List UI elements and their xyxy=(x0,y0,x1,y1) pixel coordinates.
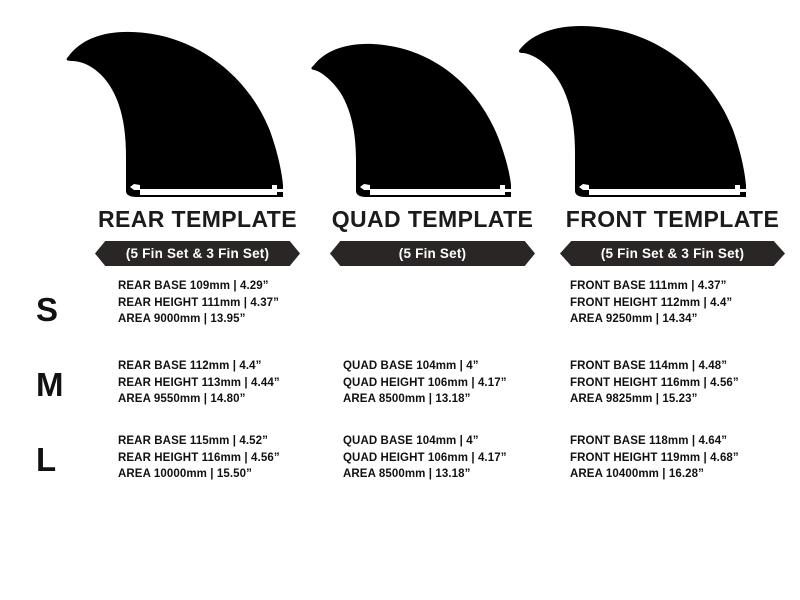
spec-line: REAR BASE 109mm | 4.29” xyxy=(118,278,279,295)
spec-block-s-rear: REAR BASE 109mm | 4.29” REAR HEIGHT 111m… xyxy=(118,278,279,328)
fin-shape-front xyxy=(505,20,755,200)
size-label-m: M xyxy=(36,368,64,401)
spec-line: AREA 8500mm | 13.18” xyxy=(343,466,507,483)
spec-line: FRONT BASE 111mm | 4.37” xyxy=(570,278,732,295)
spec-line: QUAD HEIGHT 106mm | 4.17” xyxy=(343,375,507,392)
column-banner-quad: (5 Fin Set) xyxy=(330,241,535,266)
spec-line: FRONT BASE 118mm | 4.64” xyxy=(570,433,739,450)
spec-line: AREA 8500mm | 13.18” xyxy=(343,391,507,408)
size-label-l: L xyxy=(36,443,56,476)
spec-line: AREA 10000mm | 15.50” xyxy=(118,466,280,483)
spec-line: REAR BASE 112mm | 4.4” xyxy=(118,358,280,375)
spec-block-l-rear: REAR BASE 115mm | 4.52” REAR HEIGHT 116m… xyxy=(118,433,280,483)
column-title-rear: REAR TEMPLATE xyxy=(95,208,300,231)
spec-line: FRONT HEIGHT 119mm | 4.68” xyxy=(570,450,739,467)
column-header-front: FRONT TEMPLATE (5 Fin Set & 3 Fin Set) xyxy=(560,208,785,266)
size-label-s: S xyxy=(36,293,58,326)
column-header-quad: QUAD TEMPLATE (5 Fin Set) xyxy=(330,208,535,266)
spec-line: REAR HEIGHT 113mm | 4.44” xyxy=(118,375,280,392)
spec-block-m-quad: QUAD BASE 104mm | 4” QUAD HEIGHT 106mm |… xyxy=(343,358,507,408)
spec-block-l-front: FRONT BASE 118mm | 4.64” FRONT HEIGHT 11… xyxy=(570,433,739,483)
spec-line: FRONT HEIGHT 116mm | 4.56” xyxy=(570,375,739,392)
fin-shape-quad xyxy=(300,35,525,200)
fin-illustration-row xyxy=(0,0,800,200)
spec-line: AREA 9000mm | 13.95” xyxy=(118,311,279,328)
column-banner-rear: (5 Fin Set & 3 Fin Set) xyxy=(95,241,300,266)
column-title-quad: QUAD TEMPLATE xyxy=(330,208,535,231)
spec-line: REAR HEIGHT 111mm | 4.37” xyxy=(118,295,279,312)
column-banner-front: (5 Fin Set & 3 Fin Set) xyxy=(560,241,785,266)
spec-line: QUAD BASE 104mm | 4” xyxy=(343,358,507,375)
fin-shape-rear xyxy=(45,25,295,200)
spec-line: QUAD BASE 104mm | 4” xyxy=(343,433,507,450)
spec-block-s-front: FRONT BASE 111mm | 4.37” FRONT HEIGHT 11… xyxy=(570,278,732,328)
spec-line: AREA 9250mm | 14.34” xyxy=(570,311,732,328)
spec-line: FRONT HEIGHT 112mm | 4.4” xyxy=(570,295,732,312)
column-title-front: FRONT TEMPLATE xyxy=(560,208,785,231)
spec-line: FRONT BASE 114mm | 4.48” xyxy=(570,358,739,375)
spec-line: AREA 9550mm | 14.80” xyxy=(118,391,280,408)
spec-line: AREA 9825mm | 15.23” xyxy=(570,391,739,408)
spec-line: REAR HEIGHT 116mm | 4.56” xyxy=(118,450,280,467)
column-header-rear: REAR TEMPLATE (5 Fin Set & 3 Fin Set) xyxy=(95,208,300,266)
spec-block-l-quad: QUAD BASE 104mm | 4” QUAD HEIGHT 106mm |… xyxy=(343,433,507,483)
spec-line: QUAD HEIGHT 106mm | 4.17” xyxy=(343,450,507,467)
spec-line: AREA 10400mm | 16.28” xyxy=(570,466,739,483)
spec-line: REAR BASE 115mm | 4.52” xyxy=(118,433,280,450)
spec-block-m-front: FRONT BASE 114mm | 4.48” FRONT HEIGHT 11… xyxy=(570,358,739,408)
spec-block-m-rear: REAR BASE 112mm | 4.4” REAR HEIGHT 113mm… xyxy=(118,358,280,408)
